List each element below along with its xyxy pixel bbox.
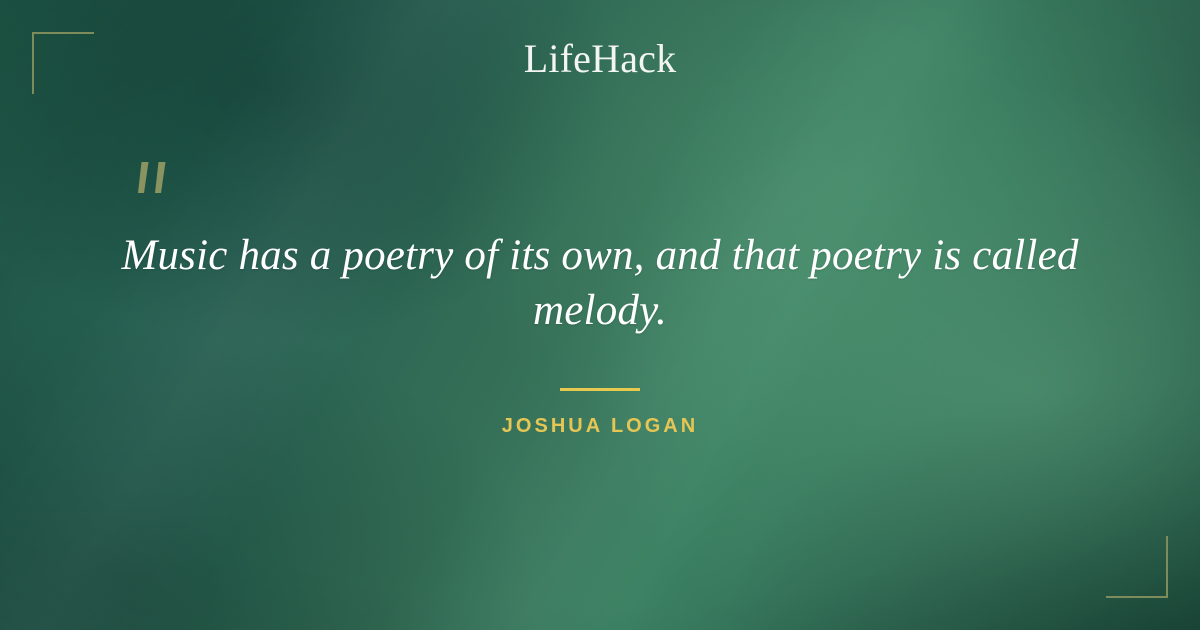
author-name: JOSHUA LOGAN [100,415,1100,438]
quote-text: Music has a poetry of its own, and that … [100,228,1100,339]
quotation-mark-icon [132,160,176,216]
quote-content: Music has a poetry of its own, and that … [100,228,1100,438]
divider [560,388,640,391]
brand-logo: LifeHack [0,36,1200,82]
corner-bracket-bottom-right-icon [1106,536,1168,598]
quote-card: LifeHack Music has a poetry of its own, … [0,0,1200,630]
